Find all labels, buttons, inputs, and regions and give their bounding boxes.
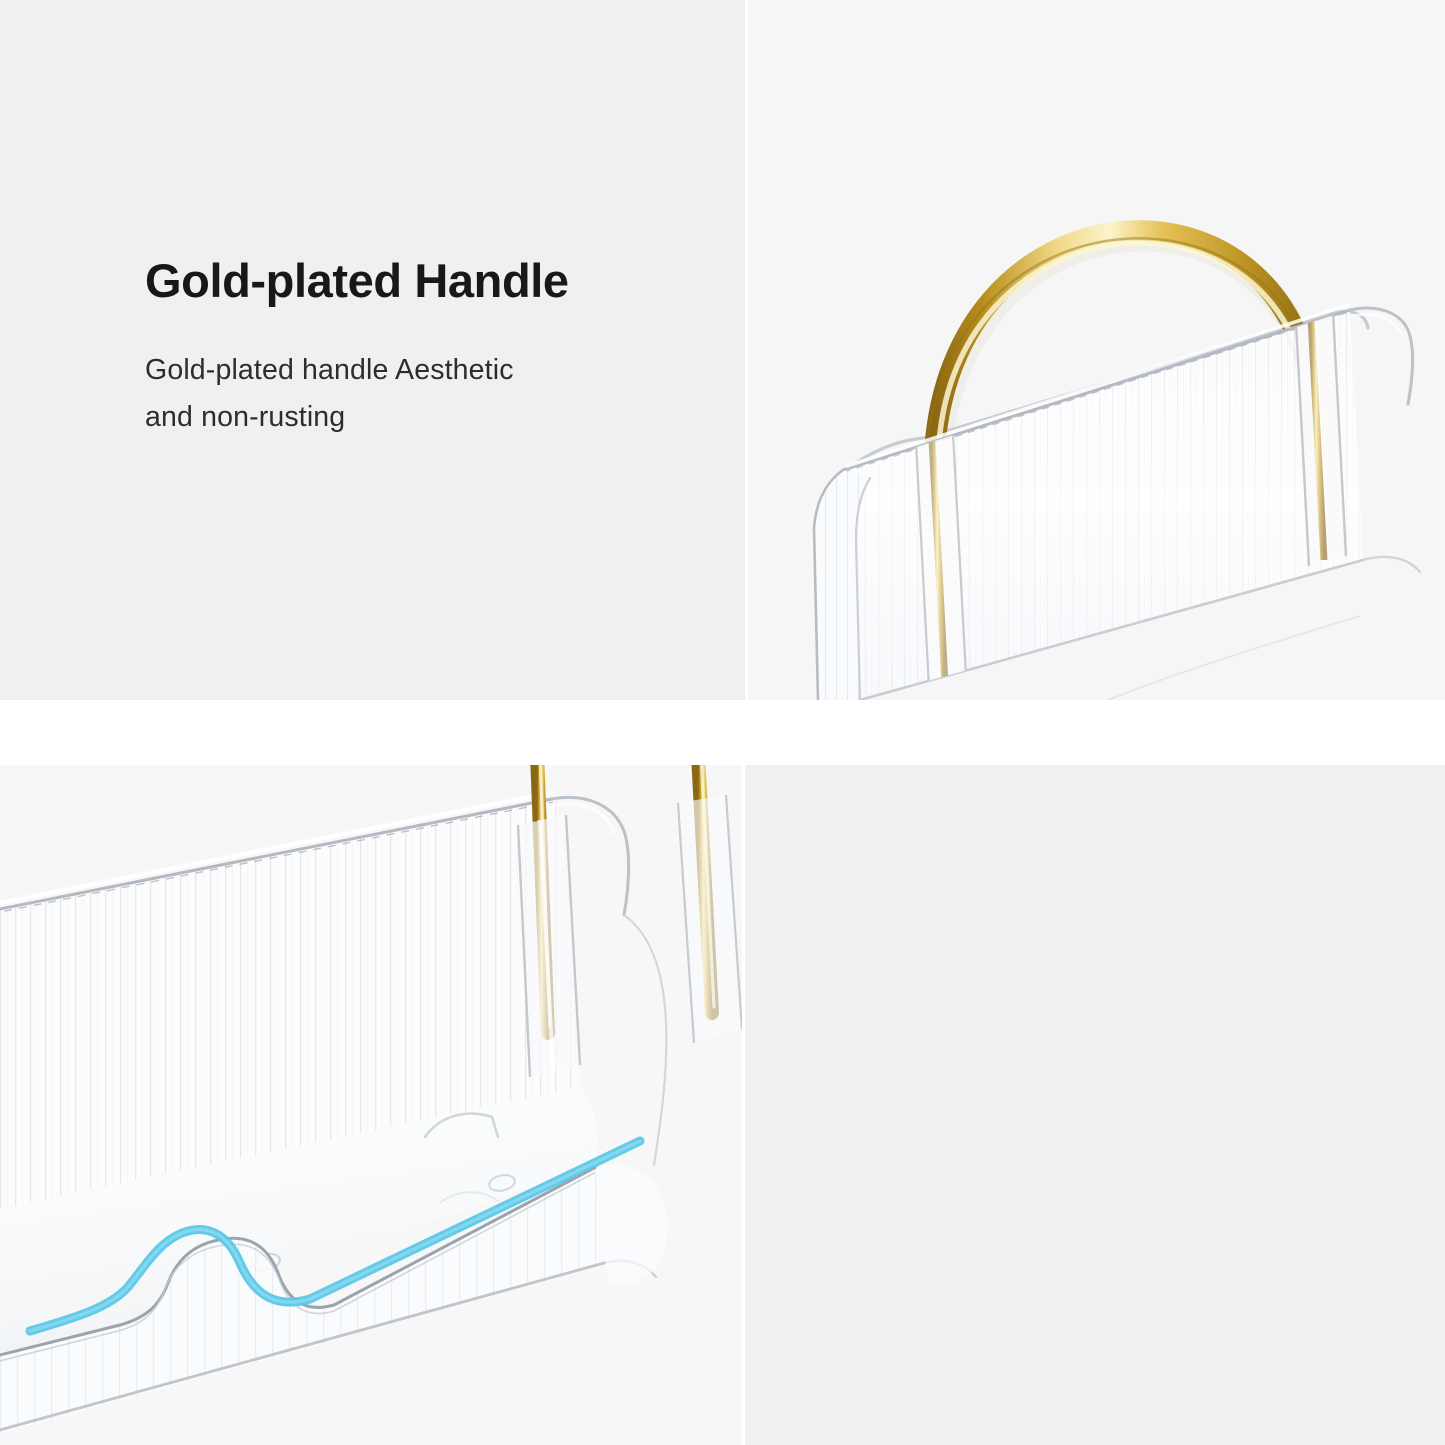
infographic-board: Gold-plated Handle Gold-plated handle Ae… bbox=[0, 0, 1445, 1445]
gold-handle-body-line-1: Gold-plated handle Aesthetic bbox=[145, 347, 665, 394]
panel-gold-handle-photo bbox=[748, 0, 1445, 700]
gold-handle-body: Gold-plated handle Aesthetic and non-rus… bbox=[145, 347, 665, 441]
panel-u-shape-bin-photo bbox=[0, 765, 742, 1445]
gold-handle-illustration bbox=[748, 0, 1445, 700]
u-shape-bin-illustration bbox=[0, 765, 742, 1445]
panel-u-shape-design-copy: U-shape design Bathroom countertop stora… bbox=[745, 765, 1445, 1445]
gold-handle-text-block: Gold-plated Handle Gold-plated handle Ae… bbox=[145, 255, 665, 441]
gold-handle-body-line-2: and non-rusting bbox=[145, 394, 665, 441]
panel-gold-plated-handle-copy: Gold-plated Handle Gold-plated handle Ae… bbox=[0, 0, 745, 700]
gold-handle-heading: Gold-plated Handle bbox=[145, 255, 665, 308]
